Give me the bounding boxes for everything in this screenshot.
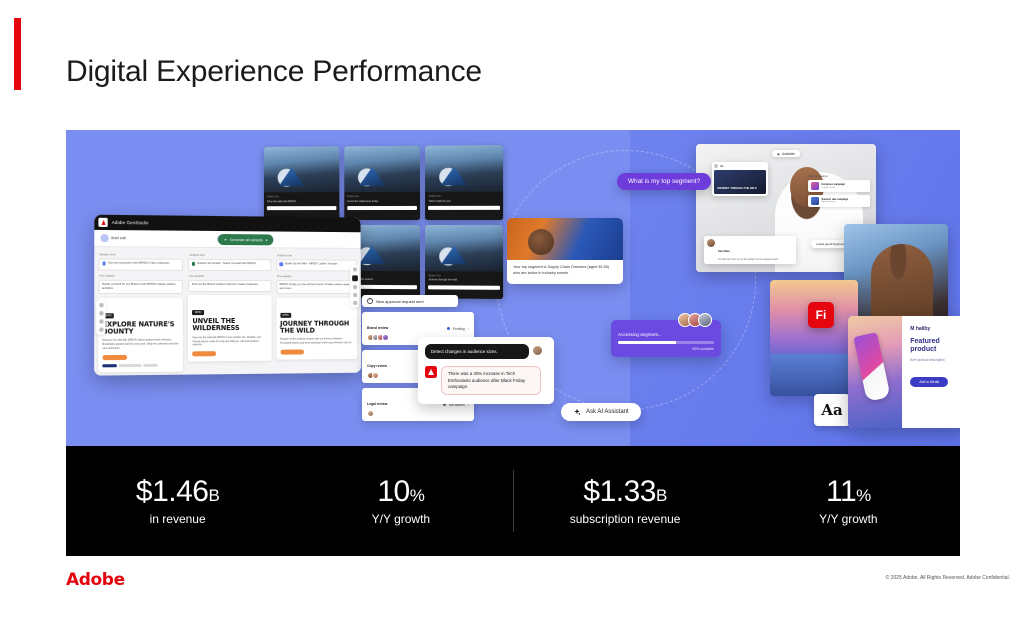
left-tool-rail[interactable] — [96, 300, 105, 335]
stat-suffix: B — [656, 486, 667, 505]
stat-value: $1.46B — [66, 476, 289, 508]
reviewer-avatars — [367, 410, 387, 417]
card-body: Step into the trail with MPIDX's new out… — [192, 336, 267, 348]
content-card[interactable]: MPID JOURNEY THROUGH THE WILD Prepare fo… — [276, 297, 357, 359]
landscape-photo — [770, 280, 858, 396]
genstudio-toolbar: Brief edit Draft edit ✦ Generate all var… — [94, 230, 360, 249]
preheader-field[interactable]: MPIDX brings you the all fresh icons. Fi… — [276, 280, 357, 294]
card-body: Prepare for the outdoor season with our … — [280, 338, 353, 346]
edit-tool-icon[interactable] — [99, 328, 103, 332]
card-headline: UNVEIL THE WILDERNESS — [192, 318, 267, 333]
product-image — [848, 316, 902, 428]
ai-question-bubble: What is my top segment? — [617, 173, 711, 190]
stat-value: $1.33B — [514, 476, 737, 508]
card-badge: MPID — [280, 312, 291, 317]
product-tube — [853, 332, 890, 402]
card-badge: MPID — [192, 310, 204, 315]
footer-swatch — [143, 363, 157, 366]
ad-variant-text: Journey through the wild — [428, 278, 500, 282]
progress-label: Accessing segment... — [618, 332, 714, 337]
ai-sparkle-icon — [573, 408, 581, 416]
genstudio-columns: Subject line Your top customers with MPI… — [98, 252, 357, 372]
stat-revenue-growth: 10% Y/Y growth — [289, 476, 512, 527]
ad-variant-text: Trails made for you — [428, 199, 500, 203]
ad-variant-image — [425, 225, 503, 272]
asset-thumbnail: JOURNEY THROUGH THE WILD — [714, 170, 766, 194]
campaign-row[interactable]: Summer sale campaign Apparel lineup — [808, 195, 870, 207]
review-info: Copy review — [367, 354, 387, 379]
comment-author: Sam Nkei — [718, 250, 730, 253]
stat-number: 11 — [826, 475, 856, 508]
content-card[interactable]: MPID UNVEIL THE WILDERNESS Step into the… — [188, 295, 271, 361]
check-circle-icon — [367, 298, 373, 304]
campaign-name: Evergreen campaign — [822, 183, 846, 186]
genstudio-column: Subject line Explore the Needs - Spark Y… — [188, 253, 271, 371]
subject-line-value: Explore the Needs - Spark Yourself with … — [197, 262, 256, 267]
undo-tool-icon[interactable] — [99, 319, 103, 323]
genstudio-window[interactable]: Adobe GenStudio Brief edit Draft edit ✦ … — [94, 215, 361, 376]
review-title: Copy review — [367, 364, 387, 368]
ad-variant-cta[interactable] — [267, 206, 336, 210]
ai-answer-text: Your top segment is Supply Chain Directo… — [507, 260, 623, 284]
review-title: Legal review — [367, 402, 387, 406]
brief-icon — [100, 234, 108, 242]
adobe-logo-icon — [98, 218, 107, 227]
stat-number: $1.33 — [583, 475, 656, 508]
stat-revenue: $1.46B in revenue — [66, 476, 289, 527]
past-campaigns-panel: Past campaigns Evergreen campaign Outdoo… — [808, 174, 870, 209]
stat-subscription-revenue: $1.33B subscription revenue — [514, 476, 737, 527]
approval-toast: New approval request sent — [362, 295, 458, 307]
availability-pill: ◉ Available — [772, 150, 800, 157]
avatar — [367, 410, 374, 417]
stat-suffix: B — [208, 486, 219, 505]
progress-fill — [618, 341, 676, 344]
ad-variant-label: Subject line — [428, 195, 500, 198]
ad-variant-label: Subject line — [347, 195, 417, 198]
card-headline: EXPLORE NATURE'S BOUNTY — [102, 321, 179, 336]
subject-line-field[interactable]: Explore the Needs - Spark Yourself with … — [188, 258, 271, 270]
generate-variants-label: Generate all variants — [230, 238, 263, 242]
preheader-label: Pre-header — [99, 274, 183, 278]
product-brand: M haliby — [910, 326, 958, 332]
asset-headline: JOURNEY THROUGH THE WILD — [717, 187, 757, 190]
ask-ai-assistant-button[interactable]: Ask AI Assistant — [561, 403, 641, 421]
ad-variant-cta[interactable] — [347, 206, 417, 210]
review-status: Pending — [453, 327, 465, 331]
past-campaigns-title: Past campaigns — [808, 174, 870, 178]
avatar — [698, 313, 712, 327]
subject-line-label: Subject line — [277, 253, 357, 257]
product-headline: Featured product — [910, 338, 958, 354]
ad-variant-card[interactable]: Subject line Shop the wild with MPIDX — [264, 146, 339, 219]
ai-answer-card: Your top segment is Supply Chain Directo… — [507, 218, 623, 284]
copyright-text: © 2025 Adobe. All Rights Reserved. Adobe… — [886, 575, 1010, 581]
progress-percent: 60% complete — [618, 347, 714, 351]
ad-variant-label: Subject line — [267, 195, 336, 198]
stat-subscription-growth: 11% Y/Y growth — [737, 476, 960, 527]
card-headline: JOURNEY THROUGH THE WILD — [280, 320, 353, 335]
review-info: Brand review — [367, 316, 388, 341]
chevron-down-icon: ▾ — [266, 238, 268, 242]
campaign-meta: Evergreen campaign Outdoor Feed — [822, 183, 846, 189]
stat-value: 11% — [737, 476, 960, 508]
footer-swatch — [119, 363, 142, 366]
search-tool-icon[interactable] — [353, 293, 357, 297]
sparkle-icon: ✦ — [224, 238, 227, 242]
ad-variant-card[interactable]: Subject line Journey through the wild — [425, 225, 503, 299]
stat-value: 10% — [289, 476, 512, 508]
stat-label: Y/Y growth — [289, 512, 512, 526]
generate-variants-button[interactable]: ✦ Generate all variants ▾ — [218, 234, 273, 245]
reviewer-avatars — [367, 372, 387, 379]
user-message-row: Detect changes in audience sizes. — [425, 344, 547, 366]
stat-number: $1.46 — [136, 475, 209, 508]
field-chip-icon — [192, 262, 196, 266]
ad-variant-meta: Subject line Trails made for you — [425, 192, 503, 220]
reviewer-avatars — [367, 334, 388, 341]
product-copy: M haliby Featured product Brief product … — [902, 316, 960, 428]
stat-label: in revenue — [66, 512, 289, 526]
adobe-wordmark: Adobe — [66, 570, 125, 590]
settings-tool-icon[interactable] — [353, 301, 357, 305]
preheader-field[interactable]: Find out the Brand Outdoor with Our Late… — [188, 279, 271, 291]
layers-tool-icon[interactable] — [352, 275, 358, 281]
review-info: Legal review — [367, 392, 387, 417]
ad-variant-text: Unveil the wilderness today — [347, 199, 417, 203]
ad-variant-label: Subject line — [428, 274, 500, 277]
genstudio-body: Subject line Your top customers with MPI… — [94, 247, 361, 375]
card-cta-button[interactable] — [192, 351, 216, 356]
ai-message: There was a 30% increase in Tech Enthusi… — [441, 366, 541, 395]
campaign-thumbnail — [811, 182, 819, 190]
field-chip-icon — [102, 261, 106, 265]
avatar — [382, 334, 389, 341]
ai-message-row: There was a 30% increase in Tech Enthusi… — [425, 366, 547, 395]
comment-body: Sam Nkei I've like this! Can we try this… — [718, 239, 778, 261]
tab-brief-edit[interactable]: Brief edit — [100, 234, 125, 242]
stat-suffix: % — [410, 486, 425, 505]
asset-avatar — [714, 164, 718, 168]
approval-toast-text: New approval request sent — [376, 299, 424, 304]
availability-icon: ◉ — [777, 152, 780, 156]
stat-label: Y/Y growth — [737, 512, 960, 526]
stat-suffix: % — [856, 486, 871, 505]
comment-tool-icon[interactable] — [353, 267, 357, 271]
card-footer — [102, 363, 179, 367]
preheader-field[interactable]: Ready yourself for our Brand north MPIDX… — [98, 279, 183, 294]
campaign-row[interactable]: Evergreen campaign Outdoor Feed — [808, 180, 870, 192]
subject-line-value: Your top customers with MPIDX's New Coll… — [108, 261, 170, 266]
typography-icon[interactable]: Aa — [814, 394, 850, 426]
genstudio-column: Subject line Spark Up the Wild - MPIDX L… — [276, 253, 357, 370]
subject-line-label: Subject line — [99, 252, 183, 257]
status-dot-icon — [447, 327, 450, 330]
product-cta-button[interactable]: Add to Media — [910, 377, 948, 387]
footer-swatch — [102, 364, 116, 367]
campaign-meta: Summer sale campaign Apparel lineup — [822, 198, 849, 204]
ad-variant-image — [264, 146, 339, 192]
asset-preview-header: Ad — [714, 164, 766, 168]
subject-line-field[interactable]: Spark Up the Wild - MPIDX Ladies Triumph — [276, 259, 357, 271]
ad-variant-image — [425, 145, 503, 192]
preheader-value: MPIDX brings you the all fresh icons. Fi… — [280, 283, 354, 291]
text-tool-icon[interactable] — [99, 303, 103, 307]
card-cta-button[interactable] — [280, 349, 304, 354]
genstudio-window-title: Adobe GenStudio — [112, 220, 149, 225]
ad-variant-card[interactable]: Subject line Trails made for you — [425, 145, 503, 219]
approval-text: Looks good! Approved — [816, 242, 846, 246]
adobe-logo-icon — [425, 366, 437, 378]
stat-label: subscription revenue — [514, 512, 737, 526]
page-title: Digital Experience Performance — [66, 55, 482, 89]
card-cta-button[interactable] — [102, 354, 127, 359]
ad-variant-image — [344, 146, 420, 192]
user-message: Detect changes in audience sizes. — [425, 344, 529, 359]
stat-number: 10 — [377, 475, 409, 508]
card-body: Discover the wild with MPIDX's latest ou… — [102, 339, 179, 351]
hero-canvas: Subject line Shop the wild with MPIDX Su… — [66, 130, 960, 446]
campaign-submeta: Apparel lineup — [822, 201, 849, 203]
comment-card[interactable]: Sam Nkei I've like this! Can we try this… — [704, 236, 796, 264]
review-status-group: Pending › — [447, 326, 469, 331]
tab-label: Brief edit — [111, 236, 126, 240]
preheader-label: Pre-header — [189, 274, 271, 278]
user-avatar — [533, 346, 542, 355]
asset-preview-card[interactable]: Ad JOURNEY THROUGH THE WILD — [712, 162, 768, 196]
segment-progress-card: Accessing segment... 60% complete — [611, 320, 721, 357]
audience-chat-card: Detect changes in audience sizes. There … — [418, 337, 554, 404]
segment-avatars — [618, 313, 712, 327]
ask-ai-assistant-label: Ask AI Assistant — [586, 409, 629, 415]
subject-line-field[interactable]: Your top customers with MPIDX's New Coll… — [98, 258, 183, 270]
genstudio-column: Subject line Your top customers with MPI… — [98, 252, 183, 372]
review-title: Brand review — [367, 326, 388, 330]
right-tool-rail[interactable] — [350, 265, 359, 308]
ad-variant-meta: Subject line Shop the wild with MPIDX — [264, 192, 339, 219]
product-card[interactable]: M haliby Featured product Brief product … — [848, 316, 960, 428]
field-chip-icon — [279, 262, 282, 265]
comment-avatar — [707, 239, 715, 247]
content-card[interactable]: MPID EXPLORE NATURE'S BOUNTY Discover th… — [98, 298, 183, 372]
progress-track — [618, 341, 714, 344]
ad-variant-meta: Subject line Unveil the wilderness today — [344, 192, 420, 220]
asset-title: Ad — [720, 165, 723, 168]
ad-variant-text: Shop the wild with MPIDX — [267, 200, 336, 204]
campaign-thumbnail — [811, 197, 819, 205]
preheader-label: Pre-header — [277, 274, 357, 278]
segment-photo — [507, 218, 623, 260]
avatar — [372, 372, 379, 379]
comment-text: I've like this! Can we try this variant … — [718, 258, 778, 261]
subject-line-value: Spark Up the Wild - MPIDX Ladies Triumph — [285, 262, 337, 267]
firefly-icon[interactable]: Fi — [808, 302, 834, 328]
stats-bar: $1.46B in revenue 10% Y/Y growth $1.33B … — [66, 446, 960, 556]
ad-variant-cta[interactable] — [428, 285, 500, 290]
ad-variant-cta[interactable] — [428, 206, 500, 210]
preheader-value: Ready yourself for our Brand north MPIDX… — [102, 283, 180, 291]
subject-line-label: Subject line — [189, 253, 271, 257]
chevron-right-icon[interactable]: › — [468, 326, 469, 331]
preheader-value: Find out the Brand Outdoor with Our Late… — [192, 283, 258, 288]
brush-tool-icon[interactable] — [99, 311, 103, 315]
ad-variant-card[interactable]: Subject line Unveil the wilderness today — [344, 146, 420, 220]
filter-tool-icon[interactable] — [353, 285, 357, 289]
product-subtext: Brief product description — [910, 358, 958, 363]
availability-label: Available — [782, 152, 795, 156]
red-accent-bar — [14, 18, 21, 90]
campaign-submeta: Outdoor Feed — [822, 187, 846, 189]
